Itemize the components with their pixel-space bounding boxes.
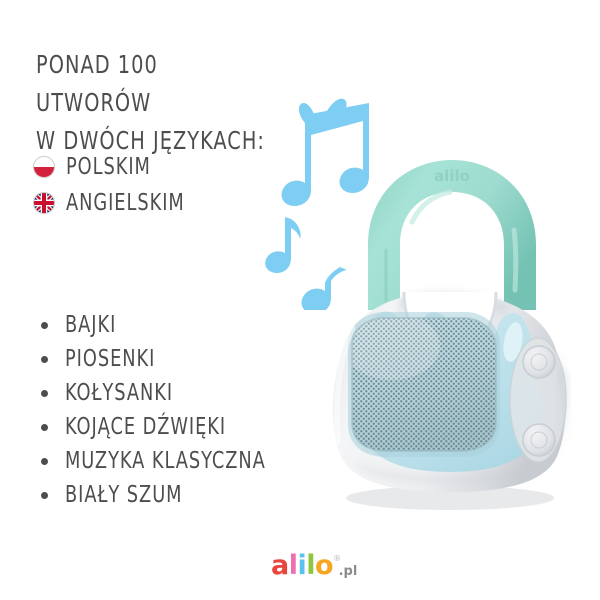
list-item: Biały szum <box>38 478 318 512</box>
feature-label: Bajki <box>65 312 116 338</box>
bullet-icon <box>41 492 48 499</box>
feature-label: Piosenki <box>65 346 155 372</box>
speaker-button-bottom[interactable] <box>523 424 555 456</box>
registered-trademark-icon: ® <box>333 555 341 563</box>
bullet-icon <box>41 322 48 329</box>
list-item: Piosenki <box>38 342 318 376</box>
logo-letter: l <box>289 552 298 579</box>
list-item-language-english: Angielskim <box>33 186 293 219</box>
speaker-button-top[interactable] <box>523 346 555 378</box>
list-item: Muzyka klasyczna <box>38 444 318 478</box>
list-item: Kołysanki <box>38 376 318 410</box>
feature-label: Muzyka klasyczna <box>65 448 266 474</box>
bullet-icon <box>41 356 48 363</box>
language-label: Polskim <box>66 154 151 180</box>
logo-tld: .pl <box>339 565 358 578</box>
feature-list: Bajki Piosenki Kołysanki Kojące dźwięki … <box>38 308 318 512</box>
list-item-language-polish: Polskim <box>33 150 293 183</box>
flag-poland-icon <box>33 156 55 178</box>
language-list: Polskim Angielskim <box>33 150 293 222</box>
speaker-grille <box>344 312 504 456</box>
page-title: Ponad 100 utworów w dwóch językach: <box>36 46 268 160</box>
product-image-alilo-speaker: alilo <box>300 150 590 530</box>
logo-letter: l <box>306 552 315 579</box>
handle-brand-text: alilo <box>434 167 470 185</box>
bullet-icon <box>41 424 48 431</box>
feature-label: Biały szum <box>65 482 182 508</box>
feature-label: Kołysanki <box>65 380 173 406</box>
list-item: Bajki <box>38 308 318 342</box>
logo-letter: o <box>315 552 333 579</box>
logo-letter: i <box>298 552 307 579</box>
flag-uk-icon <box>33 192 55 214</box>
logo-letter: a <box>271 552 289 579</box>
brand-logo: a l i l o ® .pl <box>271 552 359 579</box>
list-item: Kojące dźwięki <box>38 410 318 444</box>
language-label: Angielskim <box>66 190 185 216</box>
promo-canvas: Ponad 100 utworów w dwóch językach: Pols… <box>0 0 600 600</box>
bullet-icon <box>41 458 48 465</box>
feature-label: Kojące dźwięki <box>65 414 226 440</box>
bullet-icon <box>41 390 48 397</box>
